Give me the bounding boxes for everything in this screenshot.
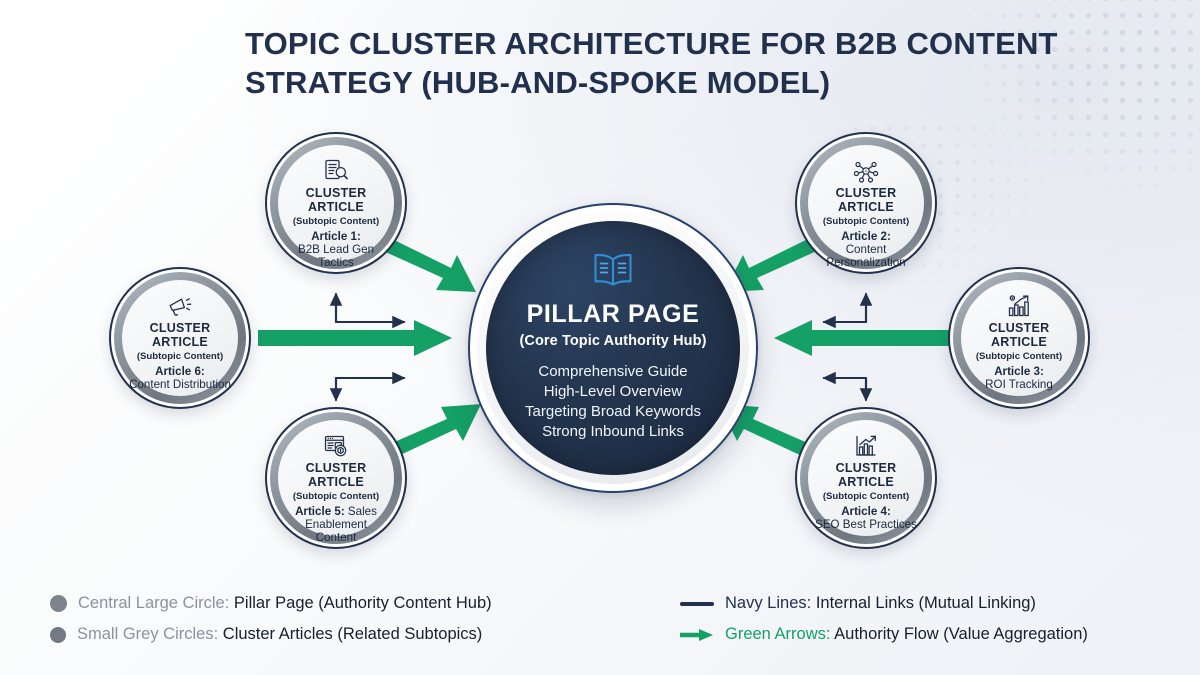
small-grey-dot-icon bbox=[50, 627, 66, 643]
node-label: Article 2: bbox=[841, 230, 891, 243]
node-body: Article 3: ROI Tracking bbox=[979, 365, 1059, 392]
node-inner: CLUSTER ARTICLE (Subtopic Content) Artic… bbox=[961, 280, 1077, 396]
node-heading: CLUSTER ARTICLE bbox=[808, 187, 924, 215]
open-book-icon bbox=[591, 251, 635, 294]
node-topic: Content Distribution bbox=[129, 378, 231, 391]
node-subheading: (Subtopic Content) bbox=[976, 351, 1062, 362]
node-subheading: (Subtopic Content) bbox=[293, 216, 379, 227]
legend-text: Green Arrows: Authority Flow (Value Aggr… bbox=[725, 625, 1088, 644]
node-body: Article 1: B2B Lead Gen Tactics bbox=[278, 230, 394, 270]
green-arrow-left bbox=[258, 320, 452, 356]
legend-text: Navy Lines: Internal Links (Mutual Linki… bbox=[725, 594, 1036, 613]
pillar-subtitle: (Core Topic Authority Hub) bbox=[519, 333, 706, 349]
legend-column-right: Navy Lines: Internal Links (Mutual Linki… bbox=[680, 588, 1200, 650]
legend-key: Small Grey Circles: bbox=[77, 625, 218, 643]
node-body: Article 2: Content Personalization bbox=[808, 230, 924, 270]
legend-item: Small Grey Circles: Cluster Articles (Re… bbox=[50, 619, 650, 650]
node-heading: CLUSTER ARTICLE bbox=[961, 322, 1077, 350]
node-subheading: (Subtopic Content) bbox=[823, 491, 909, 502]
pillar-title: PILLAR PAGE bbox=[527, 302, 700, 327]
pillar-bullet: High-Level Overview bbox=[525, 382, 701, 402]
legend-value: Pillar Page (Authority Content Hub) bbox=[234, 594, 492, 612]
legend-value: Authority Flow (Value Aggregation) bbox=[834, 625, 1088, 643]
pillar-bullet: Comprehensive Guide bbox=[525, 362, 701, 382]
pillar-bullets: Comprehensive Guide High-Level Overview … bbox=[525, 362, 701, 442]
cluster-node-article-5[interactable]: CLUSTER ARTICLE (Subtopic Content) Artic… bbox=[265, 407, 407, 549]
node-body: Article 5: Sales Enablement Content bbox=[278, 505, 394, 545]
node-label: Article 3: bbox=[994, 365, 1044, 378]
network-nodes-icon: A bbox=[853, 158, 879, 184]
node-body: Article 4: SEO Best Practices bbox=[809, 505, 923, 532]
page-title: Topic Cluster Architecture for B2B Conte… bbox=[245, 24, 1155, 102]
node-label: Article 4: bbox=[841, 505, 891, 518]
document-search-icon bbox=[323, 158, 349, 184]
navy-line-icon bbox=[680, 602, 714, 606]
legend-item: Central Large Circle: Pillar Page (Autho… bbox=[50, 588, 650, 619]
cluster-node-article-3[interactable]: CLUSTER ARTICLE (Subtopic Content) Artic… bbox=[948, 267, 1090, 409]
cluster-node-article-1[interactable]: CLUSTER ARTICLE (Subtopic Content) Artic… bbox=[265, 132, 407, 274]
legend-key: Navy Lines: bbox=[725, 594, 811, 612]
node-inner: CLUSTER ARTICLE (Subtopic Content) Artic… bbox=[278, 420, 394, 536]
node-body: Article 6: Content Distribution bbox=[123, 365, 237, 392]
node-inner: A CLUSTER ARTICLE (Subtopic Content) Art… bbox=[808, 145, 924, 261]
node-label: Article 5: bbox=[295, 505, 345, 518]
browser-badge-icon bbox=[323, 433, 349, 459]
node-subheading: (Subtopic Content) bbox=[293, 491, 379, 502]
legend-column-left: Central Large Circle: Pillar Page (Autho… bbox=[50, 588, 650, 650]
pillar-core: PILLAR PAGE (Core Topic Authority Hub) C… bbox=[486, 221, 740, 475]
node-heading: CLUSTER ARTICLE bbox=[278, 187, 394, 215]
legend-item: Navy Lines: Internal Links (Mutual Linki… bbox=[680, 588, 1200, 619]
cluster-node-article-2[interactable]: A CLUSTER ARTICLE (Subtopic Content) Art… bbox=[795, 132, 937, 274]
node-label: Article 6: bbox=[155, 365, 205, 378]
node-heading: CLUSTER ARTICLE bbox=[122, 322, 238, 350]
pillar-bullet: Targeting Broad Keywords bbox=[525, 402, 701, 422]
pillar-bullet: Strong Inbound Links bbox=[525, 422, 701, 442]
node-topic: Content Personalization bbox=[826, 243, 905, 269]
node-label: Article 1: bbox=[311, 230, 361, 243]
legend-text: Small Grey Circles: Cluster Articles (Re… bbox=[77, 625, 482, 644]
chart-trend-up-icon bbox=[853, 433, 879, 459]
legend: Central Large Circle: Pillar Page (Autho… bbox=[50, 588, 1160, 658]
legend-key: Green Arrows: bbox=[725, 625, 830, 643]
node-inner: CLUSTER ARTICLE (Subtopic Content) Artic… bbox=[122, 280, 238, 396]
node-topic: ROI Tracking bbox=[985, 378, 1053, 391]
megaphone-icon bbox=[167, 293, 193, 319]
cluster-node-article-6[interactable]: CLUSTER ARTICLE (Subtopic Content) Artic… bbox=[109, 267, 251, 409]
green-arrow-icon bbox=[680, 628, 714, 642]
cluster-node-article-4[interactable]: CLUSTER ARTICLE (Subtopic Content) Artic… bbox=[795, 407, 937, 549]
legend-key: Central Large Circle: bbox=[78, 594, 229, 612]
bar-chart-growth-icon bbox=[1006, 293, 1032, 319]
pillar-page-node[interactable]: PILLAR PAGE (Core Topic Authority Hub) C… bbox=[468, 203, 758, 493]
legend-text: Central Large Circle: Pillar Page (Autho… bbox=[78, 594, 492, 613]
node-topic: SEO Best Practices bbox=[815, 518, 917, 531]
legend-value: Cluster Articles (Related Subtopics) bbox=[223, 625, 483, 643]
legend-item: Green Arrows: Authority Flow (Value Aggr… bbox=[680, 619, 1200, 650]
svg-text:A: A bbox=[865, 169, 868, 174]
node-heading: CLUSTER ARTICLE bbox=[808, 462, 924, 490]
large-grey-dot-icon bbox=[50, 595, 67, 612]
legend-value: Internal Links (Mutual Linking) bbox=[816, 594, 1036, 612]
node-inner: CLUSTER ARTICLE (Subtopic Content) Artic… bbox=[808, 420, 924, 536]
green-arrow-right bbox=[774, 320, 968, 356]
node-topic: B2B Lead Gen Tactics bbox=[298, 243, 374, 269]
node-subheading: (Subtopic Content) bbox=[823, 216, 909, 227]
node-heading: CLUSTER ARTICLE bbox=[278, 462, 394, 490]
diagram-canvas: Topic Cluster Architecture for B2B Conte… bbox=[0, 0, 1200, 675]
node-subheading: (Subtopic Content) bbox=[137, 351, 223, 362]
node-inner: CLUSTER ARTICLE (Subtopic Content) Artic… bbox=[278, 145, 394, 261]
